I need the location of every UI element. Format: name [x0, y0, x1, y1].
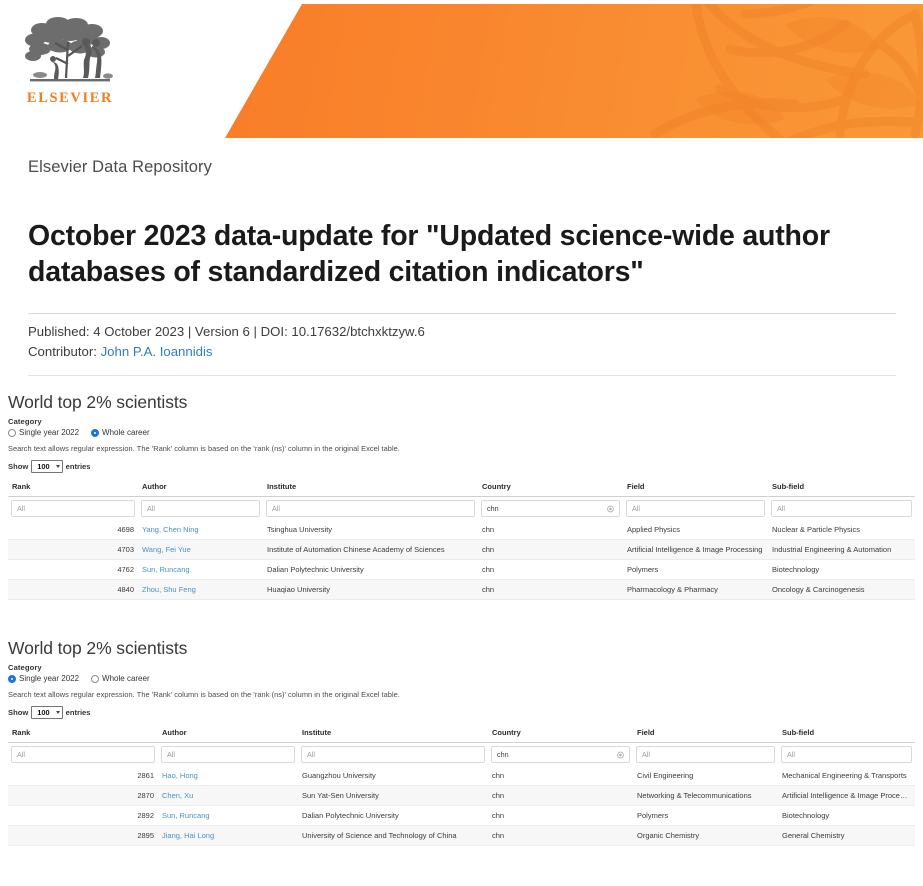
filter-country-value: chn — [487, 504, 499, 513]
entries-per-page-select[interactable]: 100 — [31, 460, 62, 473]
radio-indicator[interactable] — [91, 429, 99, 437]
filter-input-institute[interactable]: All — [266, 500, 475, 517]
cell-rank: 4762 — [8, 560, 138, 580]
filter-cell-subfield: All — [778, 743, 915, 767]
filter-cell-rank: All — [8, 497, 138, 521]
author-link[interactable]: Sun, Runcang — [142, 565, 190, 574]
cell-field: Networking & Telecommunications — [633, 786, 778, 806]
cell-rank: 4703 — [8, 540, 138, 560]
cell-author: Hao, Hong — [158, 766, 298, 786]
cell-country: chn — [488, 786, 633, 806]
cell-subfield: General Chemistry — [778, 826, 915, 846]
filter-input-author[interactable]: All — [141, 500, 260, 517]
filter-cell-institute: All — [263, 497, 478, 521]
search-hint: Search text allows regular expression. T… — [8, 690, 923, 699]
page-title: October 2023 data-update for "Updated sc… — [28, 218, 896, 291]
cell-institute: Dalian Polytechnic University — [263, 560, 478, 580]
column-header-rank[interactable]: Rank — [8, 478, 138, 497]
cell-country: chn — [478, 560, 623, 580]
table-container: Rank Author Institute Country Field Sub-… — [0, 478, 923, 600]
filter-cell-country: chn — [488, 743, 633, 767]
author-link[interactable]: Jiang, Hai Long — [162, 831, 214, 840]
cell-subfield: Biotechnology — [768, 560, 915, 580]
title-divider — [28, 313, 896, 314]
cell-rank: 4698 — [8, 520, 138, 540]
cell-country: chn — [478, 540, 623, 560]
table-row[interactable]: 2861 Hao, Hong Guangzhou University chn … — [8, 766, 915, 786]
cell-country: chn — [488, 826, 633, 846]
section-title: World top 2% scientists — [8, 392, 923, 413]
radio-label: Single year 2022 — [19, 674, 79, 683]
column-header-field[interactable]: Field — [633, 724, 778, 743]
filter-cell-country: chn — [478, 497, 623, 521]
cell-field: Applied Physics — [623, 520, 768, 540]
cell-institute: Sun Yat-Sen University — [298, 786, 488, 806]
table-header-row: Rank Author Institute Country Field Sub-… — [8, 724, 915, 743]
cell-institute: Huaqiao University — [263, 580, 478, 600]
scientists-table: Rank Author Institute Country Field Sub-… — [8, 478, 915, 600]
cell-institute: Institute of Automation Chinese Academy … — [263, 540, 478, 560]
filter-input-subfield[interactable]: All — [781, 746, 912, 763]
table-row[interactable]: 2892 Sun, Runcang Dalian Polytechnic Uni… — [8, 806, 915, 826]
cell-subfield: Artificial Intelligence & Image Processi… — [778, 786, 915, 806]
cell-author: Zhou, Shu Feng — [138, 580, 263, 600]
radio-single-year[interactable]: Single year 2022 — [8, 674, 79, 683]
cell-author: Sun, Runcang — [138, 560, 263, 580]
table-filter-row: All All All chn — [8, 743, 915, 767]
category-label: Category — [8, 663, 923, 672]
elsevier-tree-icon — [22, 16, 118, 88]
table-row[interactable]: 4703 Wang, Fei Yue Institute of Automati… — [8, 540, 915, 560]
column-header-institute[interactable]: Institute — [298, 724, 488, 743]
filter-cell-subfield: All — [768, 497, 915, 521]
cell-field: Polymers — [623, 560, 768, 580]
column-header-country[interactable]: Country — [488, 724, 633, 743]
table-filter-row: All All All chn — [8, 497, 915, 521]
document-metadata: Published: 4 October 2023 | Version 6 | … — [28, 322, 425, 363]
repository-label: Elsevier Data Repository — [28, 158, 212, 177]
author-link[interactable]: Hao, Hong — [162, 771, 198, 780]
cell-country: chn — [488, 766, 633, 786]
entries-per-page-select[interactable]: 100 — [31, 706, 62, 719]
radio-single-year[interactable]: Single year 2022 — [8, 428, 79, 437]
cell-author: Sun, Runcang — [158, 806, 298, 826]
chevron-down-icon — [56, 711, 60, 714]
entries-value: 100 — [37, 708, 49, 717]
filter-input-rank[interactable]: All — [11, 746, 155, 763]
contributor-line: Contributor: John P.A. Ioannidis — [28, 342, 425, 362]
column-header-rank[interactable]: Rank — [8, 724, 158, 743]
clear-filter-icon[interactable] — [617, 751, 624, 758]
page-banner: ELSEVIER — [0, 0, 923, 140]
metadata-divider — [28, 375, 896, 376]
cell-institute: University of Science and Technology of … — [298, 826, 488, 846]
cell-subfield: Nuclear & Particle Physics — [768, 520, 915, 540]
show-suffix-label: entries — [66, 708, 91, 717]
title-block: October 2023 data-update for "Updated sc… — [28, 218, 896, 291]
column-header-author[interactable]: Author — [138, 478, 263, 497]
filter-cell-field: All — [633, 743, 778, 767]
show-prefix-label: Show — [8, 462, 28, 471]
cell-author: Wang, Fei Yue — [138, 540, 263, 560]
filter-cell-institute: All — [298, 743, 488, 767]
radio-label: Whole career — [102, 674, 150, 683]
elsevier-logo[interactable]: ELSEVIER — [18, 16, 122, 107]
search-hint: Search text allows regular expression. T… — [8, 444, 923, 453]
author-link[interactable]: Wang, Fei Yue — [142, 545, 191, 554]
clear-filter-icon[interactable] — [607, 505, 614, 512]
show-suffix-label: entries — [66, 462, 91, 471]
column-header-subfield[interactable]: Sub-field — [768, 478, 915, 497]
contributor-link[interactable]: John P.A. Ioannidis — [101, 344, 213, 359]
filter-input-field[interactable]: All — [636, 746, 775, 763]
cell-field: Artificial Intelligence & Image Processi… — [623, 540, 768, 560]
contributor-label: Contributor: — [28, 344, 97, 359]
author-link[interactable]: Chen, Xu — [162, 791, 193, 800]
radio-whole-career[interactable]: Whole career — [91, 428, 150, 437]
cell-institute: Guangzhou University — [298, 766, 488, 786]
filter-cell-author: All — [138, 497, 263, 521]
column-header-field[interactable]: Field — [623, 478, 768, 497]
cell-author: Jiang, Hai Long — [158, 826, 298, 846]
table-row[interactable]: 4698 Yang, Chen Ning Tsinghua University… — [8, 520, 915, 540]
radio-label: Whole career — [102, 428, 150, 437]
section-title: World top 2% scientists — [8, 638, 923, 659]
filter-input-author[interactable]: All — [161, 746, 295, 763]
cell-rank: 2895 — [8, 826, 158, 846]
table-row[interactable]: 4762 Sun, Runcang Dalian Polytechnic Uni… — [8, 560, 915, 580]
elsevier-wordmark: ELSEVIER — [18, 90, 122, 107]
cell-field: Civil Engineering — [633, 766, 778, 786]
filter-input-rank[interactable]: All — [11, 500, 135, 517]
column-header-subfield[interactable]: Sub-field — [778, 724, 915, 743]
category-radio-group: Single year 2022 Whole career — [8, 428, 923, 437]
column-header-institute[interactable]: Institute — [263, 478, 478, 497]
dataset-section-single-year: World top 2% scientists Category Single … — [0, 638, 923, 846]
show-prefix-label: Show — [8, 708, 28, 717]
table-row[interactable]: 4840 Zhou, Shu Feng Huaqiao University c… — [8, 580, 915, 600]
filter-input-subfield[interactable]: All — [771, 500, 912, 517]
filter-input-country[interactable]: chn — [481, 500, 620, 517]
cell-rank: 2861 — [8, 766, 158, 786]
cell-subfield: Mechanical Engineering & Transports — [778, 766, 915, 786]
category-label: Category — [8, 417, 923, 426]
table-row[interactable]: 2895 Jiang, Hai Long University of Scien… — [8, 826, 915, 846]
radio-indicator[interactable] — [91, 675, 99, 683]
published-line: Published: 4 October 2023 | Version 6 | … — [28, 322, 425, 342]
filter-input-institute[interactable]: All — [301, 746, 485, 763]
filter-cell-field: All — [623, 497, 768, 521]
filter-cell-rank: All — [8, 743, 158, 767]
table-row[interactable]: 2870 Chen, Xu Sun Yat-Sen University chn… — [8, 786, 915, 806]
filter-input-country[interactable]: chn — [491, 746, 630, 763]
cell-rank: 2892 — [8, 806, 158, 826]
category-radio-group: Single year 2022 Whole career — [8, 674, 923, 683]
column-header-author[interactable]: Author — [158, 724, 298, 743]
cell-country: chn — [488, 806, 633, 826]
show-entries-control: Show 100 entries — [8, 460, 923, 473]
dataset-section-whole-career: World top 2% scientists Category Single … — [0, 392, 923, 600]
cell-field: Polymers — [633, 806, 778, 826]
cell-field: Pharmacology & Pharmacy — [623, 580, 768, 600]
filter-country-value: chn — [497, 750, 509, 759]
column-header-country[interactable]: Country — [478, 478, 623, 497]
cell-author: Chen, Xu — [158, 786, 298, 806]
cell-field: Organic Chemistry — [633, 826, 778, 846]
table-container: Rank Author Institute Country Field Sub-… — [0, 724, 923, 846]
entries-value: 100 — [37, 462, 49, 471]
cell-institute: Dalian Polytechnic University — [298, 806, 488, 826]
scientists-table: Rank Author Institute Country Field Sub-… — [8, 724, 915, 846]
cell-rank: 4840 — [8, 580, 138, 600]
cell-rank: 2870 — [8, 786, 158, 806]
cell-country: chn — [478, 520, 623, 540]
cell-author: Yang, Chen Ning — [138, 520, 263, 540]
cell-country: chn — [478, 580, 623, 600]
radio-indicator[interactable] — [8, 429, 16, 437]
filter-input-field[interactable]: All — [626, 500, 765, 517]
cell-institute: Tsinghua University — [263, 520, 478, 540]
chevron-down-icon — [56, 465, 60, 468]
banner-leaf-pattern — [225, 4, 923, 138]
cell-subfield: Industrial Engineering & Automation — [768, 540, 915, 560]
table-header-row: Rank Author Institute Country Field Sub-… — [8, 478, 915, 497]
filter-cell-author: All — [158, 743, 298, 767]
author-link[interactable]: Zhou, Shu Feng — [142, 585, 196, 594]
cell-subfield: Biotechnology — [778, 806, 915, 826]
radio-whole-career[interactable]: Whole career — [91, 674, 150, 683]
cell-subfield: Oncology & Carcinogenesis — [768, 580, 915, 600]
show-entries-control: Show 100 entries — [8, 706, 923, 719]
author-link[interactable]: Sun, Runcang — [162, 811, 210, 820]
radio-indicator[interactable] — [8, 675, 16, 683]
radio-label: Single year 2022 — [19, 428, 79, 437]
author-link[interactable]: Yang, Chen Ning — [142, 525, 199, 534]
